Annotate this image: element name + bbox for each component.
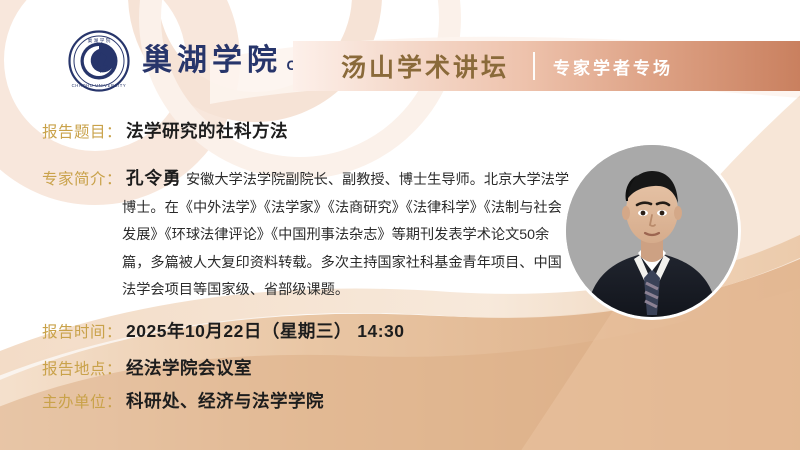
report-time-label: 报告时间： [42,320,122,342]
organizer-label: 主办单位： [42,390,122,412]
report-time-value: 2025年10月22日（星期三） 14:30 [126,318,404,343]
report-title-row: 报告题目： 法学研究的社科方法 [42,118,288,143]
report-title-value: 法学研究的社科方法 [126,118,288,143]
speaker-name: 孔令勇 [126,168,182,188]
seminar-poster: 巢 湖 学 院 CHAOHU UNIVERSITY 巢湖学院 CHAOHU UN… [0,0,800,450]
report-place-value: 经法学院会议室 [126,355,252,380]
speaker-bio-label: 专家简介： [42,167,122,189]
speaker-bio-line1: 安徽大学法学院副院长、副教授、博士生导师。北京大学法学 [186,172,569,188]
report-time-row: 报告时间： 2025年10月22日（星期三） 14:30 [42,318,405,343]
report-place-label: 报告地点： [42,357,122,379]
organizer-value: 科研处、经济与法学学院 [126,388,324,413]
poster-content: 报告题目： 法学研究的社科方法 专家简介： 孔令勇 安徽大学法学院副院长、副教授… [0,0,800,450]
speaker-bio-body: 博士。在《中外法学》《法学家》《法商研究》《法律科学》《法制与社会发展》《环球法… [122,200,562,299]
report-title-label: 报告题目： [42,120,122,142]
speaker-bio-content: 孔令勇 安徽大学法学院副院长、副教授、博士生导师。北京大学法学 博士。在《中外法… [122,165,570,305]
speaker-bio-row: 专家简介： 孔令勇 安徽大学法学院副院长、副教授、博士生导师。北京大学法学 博士… [42,165,570,305]
report-place-row: 报告地点： 经法学院会议室 [42,355,252,380]
organizer-row: 主办单位： 科研处、经济与法学学院 [42,388,324,413]
speaker-portrait [566,145,738,317]
